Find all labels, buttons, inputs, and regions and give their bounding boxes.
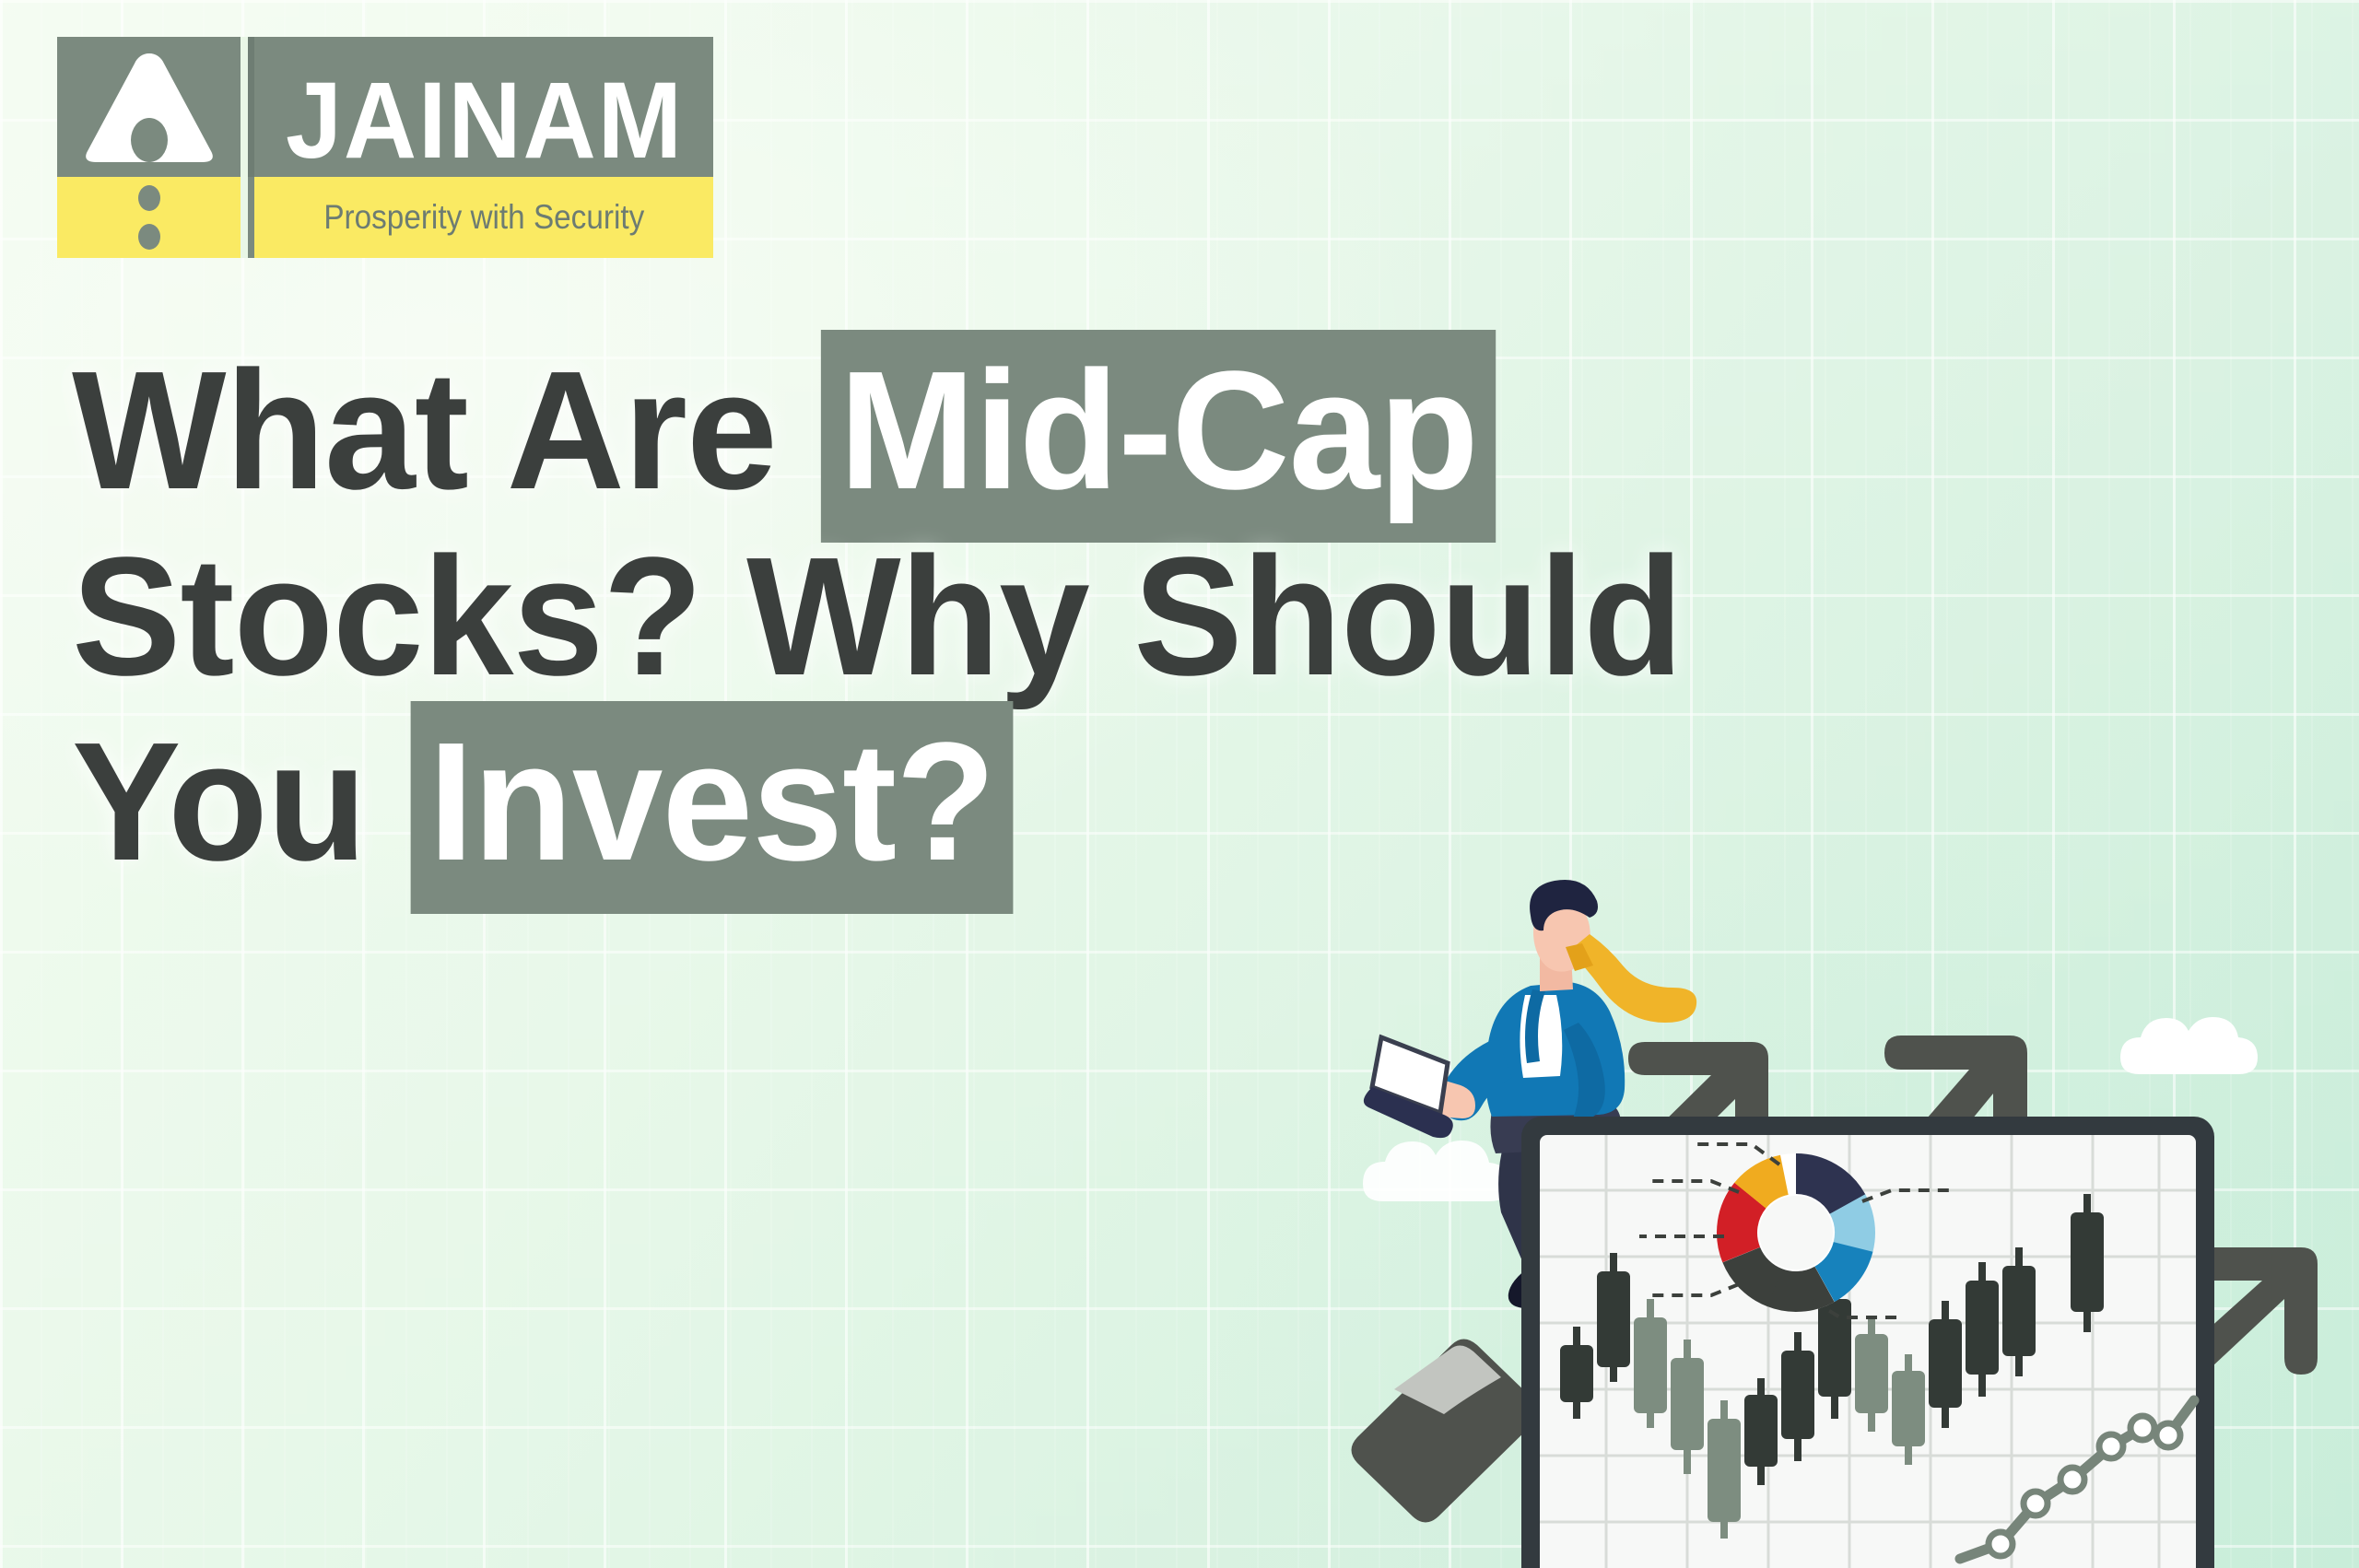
page-title: What Are Mid-Cap Stocks? Why Should You … <box>72 339 1970 893</box>
brand-tagline: Prosperity with Security <box>323 198 644 237</box>
headline-line-3-plain: You <box>72 707 411 895</box>
small-laptop-icon <box>1364 1037 1453 1138</box>
headline-line-3: You Invest? <box>72 710 1913 893</box>
growth-arrow-up-right-icon-4 <box>1352 1340 1540 1523</box>
logo-dots <box>57 177 241 258</box>
headline-highlight-mid-cap: Mid-Cap <box>821 330 1496 543</box>
headline-highlight-invest: Invest? <box>411 701 1013 914</box>
logo-tagline-box: Prosperity with Security <box>248 177 713 258</box>
logo-triangle-icon <box>57 37 241 177</box>
logo-dot-upper-icon <box>138 185 160 211</box>
logo-dot-lower-icon <box>138 224 160 250</box>
logo-text-column: JAINAM Prosperity with Security <box>248 37 713 258</box>
brand-logo[interactable]: JAINAM Prosperity with Security <box>57 37 713 258</box>
logo-name-box: JAINAM <box>248 37 713 177</box>
logo-divider <box>241 37 247 258</box>
logo-mark <box>57 37 241 258</box>
laptop-icon <box>1470 1117 2306 1568</box>
headline-line-1: What Are Mid-Cap <box>72 339 1913 521</box>
headline-line-2: Stocks? Why Should <box>72 525 1913 708</box>
brand-name: JAINAM <box>286 71 684 171</box>
headline-line-1-plain: What Are <box>72 335 821 524</box>
illustration-investor-on-laptop <box>1341 866 2359 1568</box>
headline-line-2-plain: Stocks? Why Should <box>72 521 1683 710</box>
cloud-icon-right <box>2120 1017 2258 1074</box>
cloud-icon-left <box>1363 1141 1509 1201</box>
